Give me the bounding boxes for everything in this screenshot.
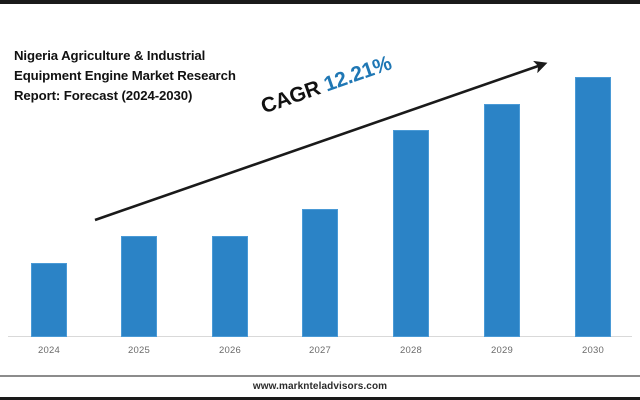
x-tick-label-2026: 2026 (200, 345, 260, 356)
bar-2028[interactable] (393, 130, 429, 337)
cagr-value: 12.21% (321, 51, 395, 96)
x-tick-label-2030: 2030 (563, 345, 623, 356)
x-tick-label-2025: 2025 (109, 345, 169, 356)
bar-2027[interactable] (302, 209, 338, 337)
cagr-label: CAGR (258, 75, 329, 119)
x-tick-label-2024: 2024 (19, 345, 79, 356)
footer-divider (0, 375, 640, 377)
cagr-annotation: CAGR 12.21% (258, 51, 395, 119)
footer-url: www.marknteladvisors.com (0, 381, 640, 392)
bar-2030[interactable] (575, 77, 611, 337)
plot-area: 2024 2025 2026 2027 2028 2029 2030 CAGR … (0, 4, 640, 344)
x-tick-label-2028: 2028 (381, 345, 441, 356)
bar-2026[interactable] (212, 236, 248, 337)
x-tick-label-2029: 2029 (472, 345, 532, 356)
bar-2029[interactable] (484, 104, 520, 337)
x-tick-label-2027: 2027 (290, 345, 350, 356)
bar-2024[interactable] (31, 263, 67, 337)
chart-screenshot: Nigeria Agriculture & Industrial Equipme… (0, 0, 640, 400)
bar-2025[interactable] (121, 236, 157, 337)
